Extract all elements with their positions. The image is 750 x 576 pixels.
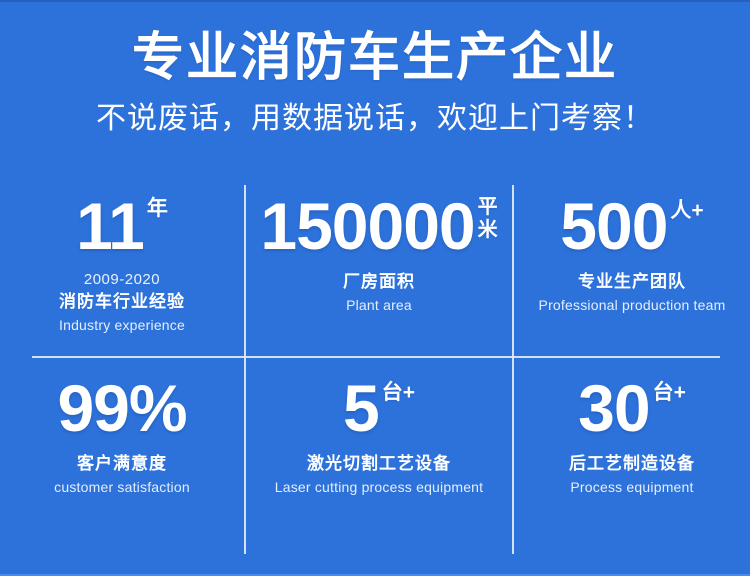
stat-label-en: Plant area (246, 295, 512, 315)
stat-value-row: 11 年 (0, 190, 244, 268)
stat-label-cn: 激光切割工艺设备 (246, 452, 512, 476)
stat-label-en: Process equipment (514, 477, 750, 497)
stat-unit-top: 平 (478, 196, 498, 219)
stat-label-cn: 后工艺制造设备 (514, 452, 750, 476)
stat-label-cn: 厂房面积 (246, 270, 512, 294)
stat-label-cn: 专业生产团队 (514, 270, 750, 294)
stats-grid: 11 年 2009-2020 消防车行业经验 Industry experien… (0, 180, 750, 552)
stat-unit: 台+ (379, 372, 415, 404)
stat-label-cn: 客户满意度 (0, 452, 244, 476)
stat-cell-customer-satisfaction: 99% 客户满意度 customer satisfaction (0, 372, 244, 532)
stat-cell-plant-area: 150000 平 米 厂房面积 Plant area (246, 190, 512, 350)
stat-value-row: 30 台+ (514, 372, 750, 450)
page-title: 专业消防车生产企业 (0, 2, 750, 86)
stat-year-range: 2009-2020 (0, 270, 244, 290)
poster-header: 专业消防车生产企业 不说废话，用数据说话，欢迎上门考察！ (0, 2, 750, 135)
grid-divider-horizontal (32, 356, 720, 358)
stat-label-en: Professional production team (514, 295, 750, 315)
stat-unit: 人+ (667, 190, 703, 222)
stat-unit: 年 (144, 190, 168, 220)
stat-value: 99% (57, 372, 186, 444)
stat-cell-process-equipment: 30 台+ 后工艺制造设备 Process equipment (514, 372, 750, 532)
stat-value-row: 5 台+ (246, 372, 512, 450)
stat-unit: 台+ (650, 372, 686, 404)
stat-value: 5 (343, 372, 379, 444)
stat-label-en: Industry experience (0, 315, 244, 335)
stat-label-en: customer satisfaction (0, 477, 244, 497)
stat-value-row: 150000 平 米 (246, 190, 512, 268)
stat-value: 30 (578, 372, 649, 444)
stat-value-row: 500 人+ (514, 190, 750, 268)
stat-value-row: 99% (0, 372, 244, 450)
stat-value: 150000 (260, 190, 474, 262)
stat-value: 500 (560, 190, 667, 262)
stat-cell-laser-cutting: 5 台+ 激光切割工艺设备 Laser cutting process equi… (246, 372, 512, 532)
page-subtitle: 不说废话，用数据说话，欢迎上门考察！ (0, 86, 750, 135)
stat-cell-industry-experience: 11 年 2009-2020 消防车行业经验 Industry experien… (0, 190, 244, 350)
stat-cell-production-team: 500 人+ 专业生产团队 Professional production te… (514, 190, 750, 350)
stat-value: 11 (76, 190, 144, 262)
stat-unit-bottom: 米 (478, 219, 498, 242)
stat-unit: 平 米 (475, 190, 498, 242)
stat-label-cn: 消防车行业经验 (0, 290, 244, 314)
promo-poster: 专业消防车生产企业 不说废话，用数据说话，欢迎上门考察！ 11 年 2009-2… (0, 0, 750, 576)
stat-label-en: Laser cutting process equipment (246, 477, 512, 497)
